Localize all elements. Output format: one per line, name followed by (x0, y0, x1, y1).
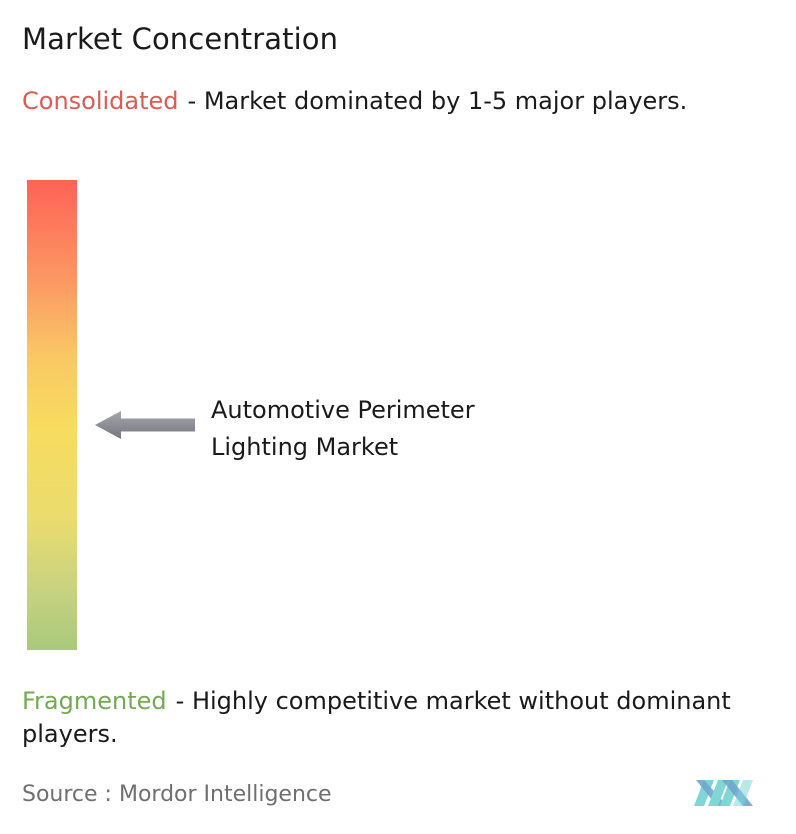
consolidated-separator: - (188, 87, 197, 115)
left-arrow-icon (95, 392, 195, 448)
fragmented-term: Fragmented (22, 687, 167, 715)
page-title: Market Concentration (22, 20, 338, 58)
fragmented-description: Fragmented- Highly competitive market wi… (22, 685, 782, 751)
fragmented-separator: - (176, 687, 185, 715)
market-callout-label: Automotive Perimeter Lighting Market (211, 392, 475, 466)
consolidated-term: Consolidated (22, 87, 179, 115)
source-value: Mordor Intelligence (119, 782, 332, 807)
source-label: Source : (22, 782, 112, 807)
source-line: Source : Mordor Intelligence (22, 780, 332, 810)
market-callout: Automotive Perimeter Lighting Market (95, 392, 475, 466)
consolidated-text: Market dominated by 1-5 major players. (204, 87, 687, 115)
consolidated-description: Consolidated- Market dominated by 1-5 ma… (22, 85, 772, 118)
concentration-gradient-bar (27, 180, 77, 650)
mordor-intelligence-logo (694, 770, 758, 812)
